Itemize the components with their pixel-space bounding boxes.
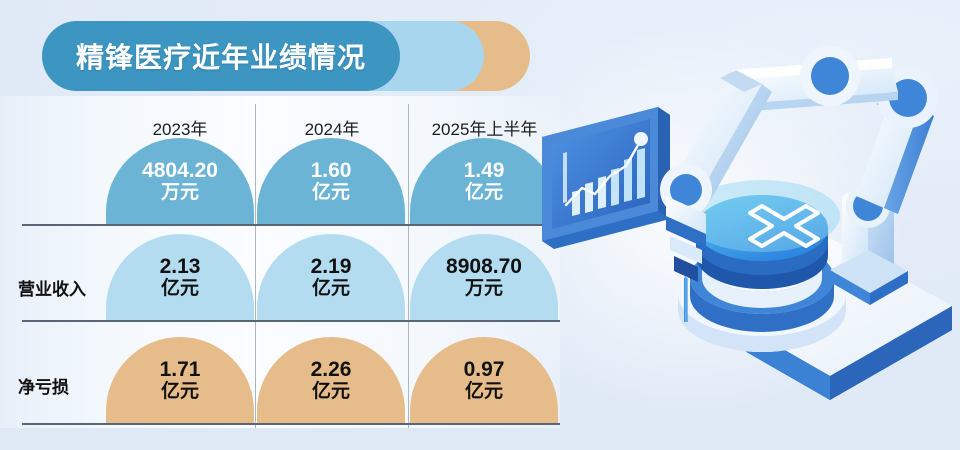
cell-unit: 万元: [465, 278, 503, 299]
page-title: 精锋医疗近年业绩情况: [42, 21, 400, 91]
infographic-canvas: 精锋医疗近年业绩情况 2023年 2024年 2025年上半年 4804.20 …: [0, 0, 960, 450]
cell-revenue-2023: 4804.20 万元: [106, 138, 254, 224]
table-column-divider-2: [408, 104, 409, 428]
performance-table: 2023年 2024年 2025年上半年 4804.20 万元 1.60 亿元 …: [0, 104, 560, 428]
cell-unit: 亿元: [161, 381, 199, 402]
cell-value: 0.97: [464, 358, 505, 382]
cell-netloss-2023: 2.13 亿元: [106, 234, 254, 320]
cell-unit: 亿元: [161, 278, 199, 299]
table-row-divider-2: [22, 320, 560, 322]
cell-value: 1.71: [160, 358, 201, 382]
cell-netloss-2024: 2.19 亿元: [257, 234, 405, 320]
table-column-divider-1: [255, 104, 256, 428]
cell-unit: 亿元: [465, 182, 503, 203]
row-label-revenue: 营业收入: [18, 274, 104, 300]
cell-value: 4804.20: [142, 159, 218, 183]
cell-value: 2.26: [311, 358, 352, 382]
cell-unit: 万元: [161, 182, 199, 203]
cell-unit: 亿元: [312, 182, 350, 203]
cell-rnd-2023: 1.71 亿元: [106, 337, 254, 423]
surgical-robot-illustration: [500, 0, 960, 450]
table-bottom-border: [22, 423, 560, 425]
table-row-divider-1: [22, 224, 560, 226]
cell-revenue-2024: 1.60 亿元: [257, 138, 405, 224]
cell-value: 1.60: [311, 159, 352, 183]
cell-value: 2.13: [160, 255, 201, 279]
row-label-netloss: 净亏损: [18, 372, 104, 398]
cell-unit: 亿元: [465, 381, 503, 402]
cell-rnd-2024: 2.26 亿元: [257, 337, 405, 423]
cell-value: 1.49: [464, 159, 505, 183]
cell-unit: 亿元: [312, 278, 350, 299]
cell-unit: 亿元: [312, 381, 350, 402]
cell-value: 2.19: [311, 255, 352, 279]
